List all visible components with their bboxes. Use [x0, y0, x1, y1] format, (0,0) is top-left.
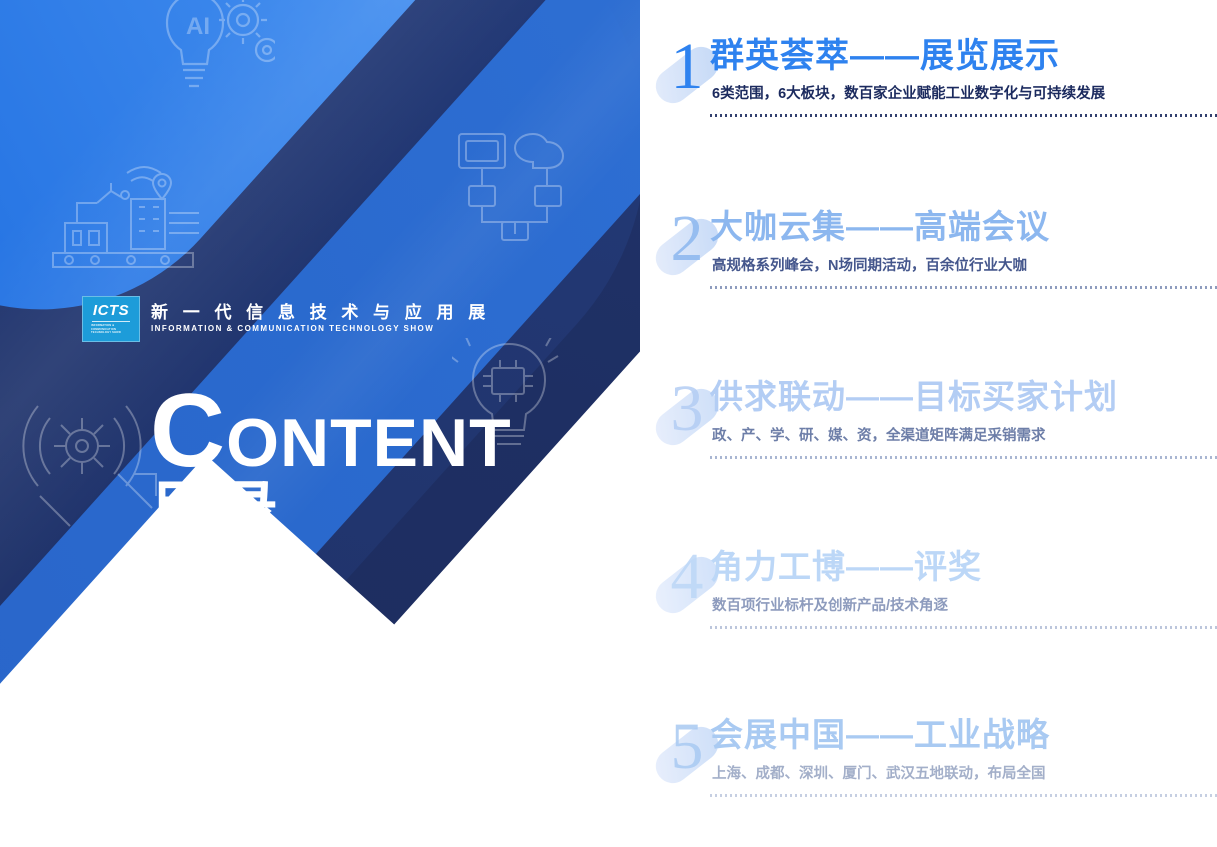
toc-item-title: 角力工博——评奖	[710, 540, 982, 588]
heading-english: CONTENT	[150, 390, 512, 475]
table-of-contents: 1群英荟萃——展览展示6类范围，6大板块，数百家企业赋能工业数字化与可持续发展2…	[640, 0, 1217, 847]
heading-rest: ONTENT	[226, 405, 512, 481]
toc-item-title: 大咖云集——高端会议	[710, 200, 1050, 248]
brand-title-block: 新 一 代 信 息 技 术 与 应 用 展 INFORMATION & COMM…	[151, 302, 490, 336]
ai-lightbulb-gears-icon: AI	[145, 0, 275, 93]
content-heading-block: CONTENT 目录	[150, 390, 512, 545]
smart-factory-conveyor-icon	[35, 135, 205, 280]
logo-divider	[92, 321, 130, 322]
toc-item-divider	[710, 626, 1217, 629]
toc-item-subtitle: 上海、成都、深圳、厦门、武汉五地联动，布局全国	[712, 762, 1046, 783]
brand-title-en: INFORMATION & COMMUNICATION TECHNOLOGY S…	[151, 323, 490, 336]
toc-item-subtitle: 数百项行业标杆及创新产品/技术角逐	[712, 594, 948, 615]
toc-item-divider	[710, 286, 1217, 289]
left-artwork-panel: AI	[0, 0, 640, 847]
toc-item-title: 会展中国——工业战略	[710, 708, 1050, 756]
logo-sub-line-3: TECHNOLOGY SHOW	[91, 331, 131, 334]
brand-logo-row: ICTS INFORMATION & COMMUNICATION TECHNOL…	[82, 296, 490, 342]
toc-item-5[interactable]: 5会展中国——工业战略上海、成都、深圳、厦门、武汉五地联动，布局全国	[640, 690, 1217, 840]
heading-chinese: 目录	[150, 477, 512, 545]
toc-item-divider	[710, 114, 1217, 117]
brand-title-cn: 新 一 代 信 息 技 术 与 应 用 展	[151, 302, 490, 323]
toc-item-subtitle: 高规格系列峰会，N场同期活动，百余位行业大咖	[712, 254, 1027, 275]
toc-item-title: 群英荟萃——展览展示	[710, 28, 1060, 77]
toc-item-subtitle: 6类范围，6大板块，数百家企业赋能工业数字化与可持续发展	[712, 82, 1105, 103]
heading-initial: C	[150, 373, 226, 489]
svg-text:AI: AI	[186, 13, 210, 40]
icts-logo-mark: ICTS INFORMATION & COMMUNICATION TECHNOL…	[82, 296, 140, 342]
toc-item-divider	[710, 794, 1217, 797]
satellite-orbit-icon	[5, 715, 190, 847]
logistics-truck-gear-icon	[185, 680, 355, 800]
toc-item-2[interactable]: 2大咖云集——高端会议高规格系列峰会，N场同期活动，百余位行业大咖	[640, 182, 1217, 332]
toc-item-title: 供求联动——目标买家计划	[710, 370, 1118, 418]
cloud-network-monitor-icon	[455, 128, 585, 243]
toc-item-4[interactable]: 4角力工博——评奖数百项行业标杆及创新产品/技术角逐	[640, 520, 1217, 670]
icts-logo-text: ICTS	[93, 303, 129, 318]
content-slide: AI	[0, 0, 1217, 847]
toc-item-divider	[710, 456, 1217, 459]
toc-item-subtitle: 政、产、学、研、媒、资，全渠道矩阵满足采销需求	[712, 424, 1046, 445]
toc-item-3[interactable]: 3供求联动——目标买家计划政、产、学、研、媒、资，全渠道矩阵满足采销需求	[640, 352, 1217, 502]
toc-item-1[interactable]: 1群英荟萃——展览展示6类范围，6大板块，数百家企业赋能工业数字化与可持续发展	[640, 10, 1217, 160]
